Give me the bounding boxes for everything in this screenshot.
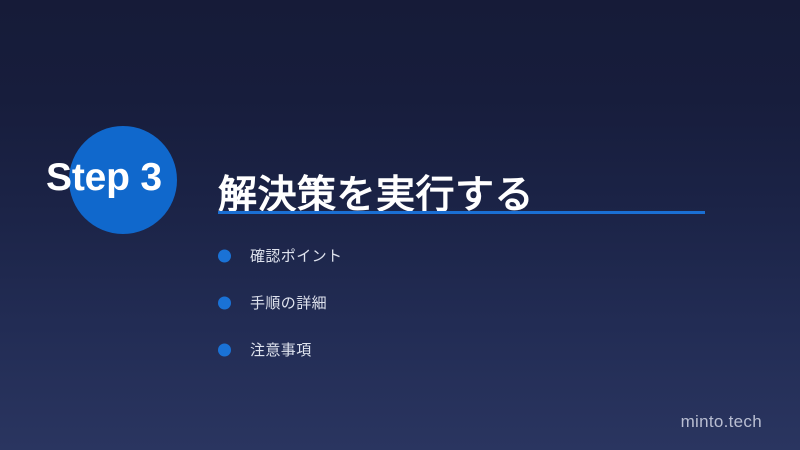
bullet-list: 確認ポイント 手順の詳細 注意事項 [218, 232, 698, 373]
list-item: 注意事項 [218, 326, 698, 373]
title-divider [218, 211, 705, 214]
list-item-label: 注意事項 [250, 339, 312, 360]
list-item: 確認ポイント [218, 232, 698, 279]
watermark-brand: minto.tech [681, 412, 762, 432]
list-item-label: 手順の詳細 [250, 292, 327, 313]
list-item-label: 確認ポイント [250, 245, 342, 266]
bullet-dot-icon [218, 296, 231, 309]
bullet-dot-icon [218, 249, 231, 262]
slide-canvas: Step 3 解決策を実行する 確認ポイント 手順の詳細 注意事項 minto.… [0, 0, 800, 450]
bullet-dot-icon [218, 343, 231, 356]
step-badge-label: Step 3 [46, 152, 216, 204]
list-item: 手順の詳細 [218, 279, 698, 326]
